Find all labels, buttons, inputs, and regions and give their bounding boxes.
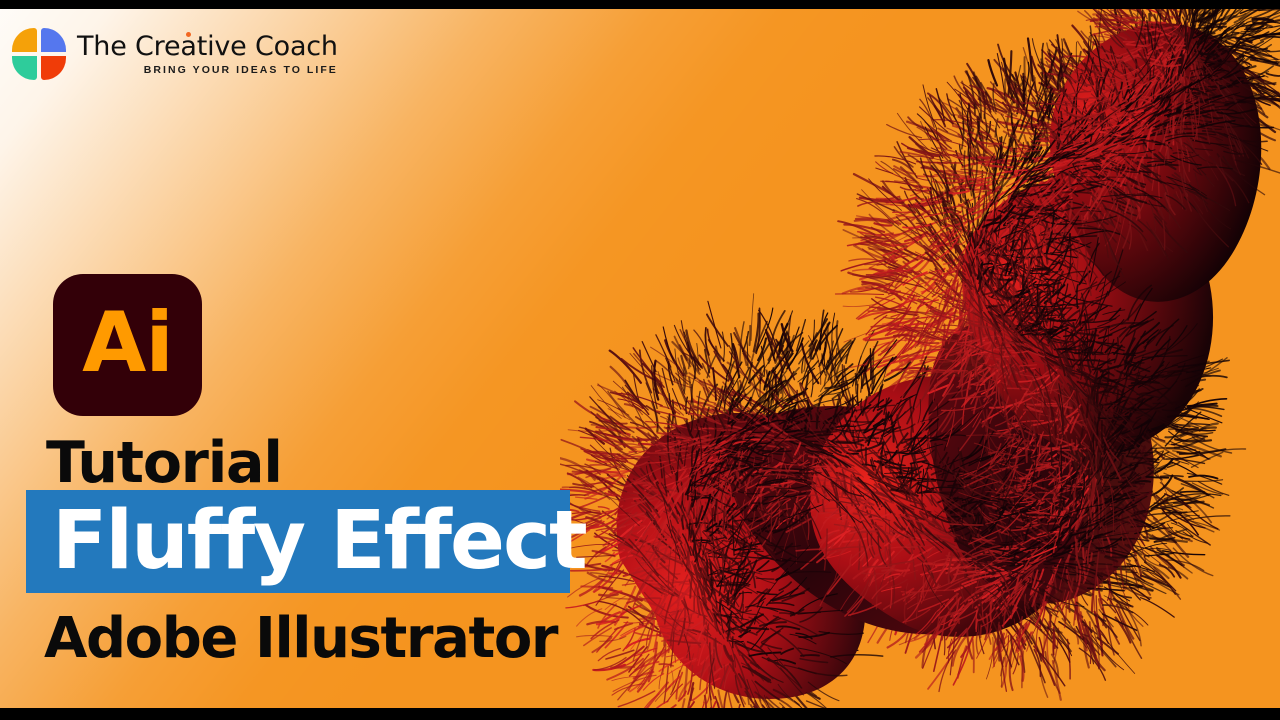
adobe-illustrator-icon[interactable]: Ai: [53, 274, 202, 416]
logo-quadrant-top-left: [12, 28, 37, 52]
headline-subtitle: Adobe Illustrator: [44, 611, 557, 667]
logo-quadrant-bottom-right: [41, 56, 66, 80]
youtube-thumbnail: The Creative Coach BRING YOUR IDEAS TO L…: [0, 0, 1280, 720]
fluffy-ribbon-svg: [560, 9, 1280, 708]
brand-title: The Creative Coach: [77, 33, 338, 60]
fluffy-fur-ribbon-artwork: [560, 9, 1280, 708]
letterbox-bar-bottom: [0, 708, 1280, 720]
logo-quadrant-top-right: [41, 28, 66, 52]
letterbox-bar-top: [0, 0, 1280, 9]
brand-logo[interactable]: The Creative Coach BRING YOUR IDEAS TO L…: [12, 28, 338, 80]
thumbnail-canvas: The Creative Coach BRING YOUR IDEAS TO L…: [0, 9, 1280, 708]
brand-title-text: The Creative Coach: [77, 31, 338, 62]
brand-tagline: BRING YOUR IDEAS TO LIFE: [77, 65, 338, 76]
logo-quadrant-bottom-left: [12, 56, 37, 80]
headline-kicker: Tutorial: [46, 435, 282, 492]
brand-accent-dot-icon: [186, 32, 191, 37]
four-petal-logo-icon: [12, 28, 66, 80]
headline-title: Fluffy Effect: [52, 496, 572, 587]
brand-text: The Creative Coach BRING YOUR IDEAS TO L…: [77, 33, 338, 76]
adobe-illustrator-icon-label: Ai: [82, 301, 173, 384]
